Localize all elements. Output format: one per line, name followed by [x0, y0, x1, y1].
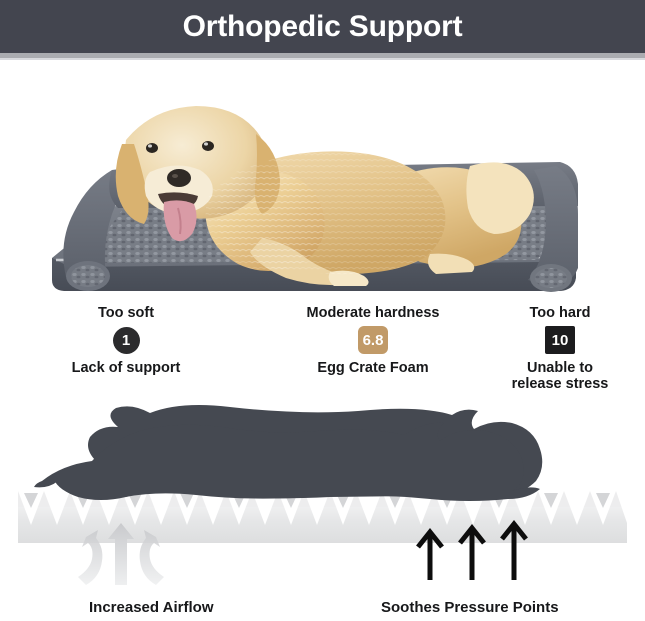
scale-value-badge-1: 1 — [113, 327, 140, 354]
scale-stop-top-label: Too soft — [46, 305, 206, 321]
caption-increased-airflow: Increased Airflow — [89, 600, 213, 615]
scale-stop-bottom-label: Unable to release stress — [480, 360, 640, 392]
scale-stop-bottom-line2: release stress — [512, 376, 609, 392]
header-divider-rule — [0, 58, 645, 60]
foam-cross-section-diagram — [0, 405, 645, 590]
scale-stop-moderate: Moderate hardness 6.8 Egg Crate Foam — [283, 305, 463, 376]
scale-value-badge-10: 10 — [545, 326, 575, 354]
product-photo-illustration — [0, 62, 645, 300]
caption-soothes-pressure-points: Soothes Pressure Points — [381, 600, 559, 615]
scale-stop-bottom-label: Lack of support — [46, 360, 206, 376]
page-title: Orthopedic Support — [183, 12, 463, 42]
header-banner: Orthopedic Support — [0, 0, 645, 53]
scale-stop-bottom-line1: Unable to — [527, 360, 593, 376]
scale-value-badge-68: 6.8 — [358, 326, 389, 354]
scale-stop-too-hard: Too hard 10 Unable to release stress — [480, 305, 640, 393]
scale-badge-row: 6.8 — [283, 325, 463, 355]
infographic-page: Orthopedic Support — [0, 0, 645, 621]
scale-badge-row: 1 — [46, 325, 206, 355]
scale-stop-top-label: Moderate hardness — [283, 305, 463, 321]
foam-diagram-illustration — [0, 405, 645, 590]
scale-stop-bottom-label: Egg Crate Foam — [283, 360, 463, 376]
scale-stop-top-label: Too hard — [480, 305, 640, 321]
scale-badge-row: 10 — [480, 325, 640, 355]
hardness-scale: Too soft 1 Lack of support Moderate hard… — [0, 305, 645, 405]
product-photo — [0, 62, 645, 300]
scale-stop-too-soft: Too soft 1 Lack of support — [46, 305, 206, 376]
